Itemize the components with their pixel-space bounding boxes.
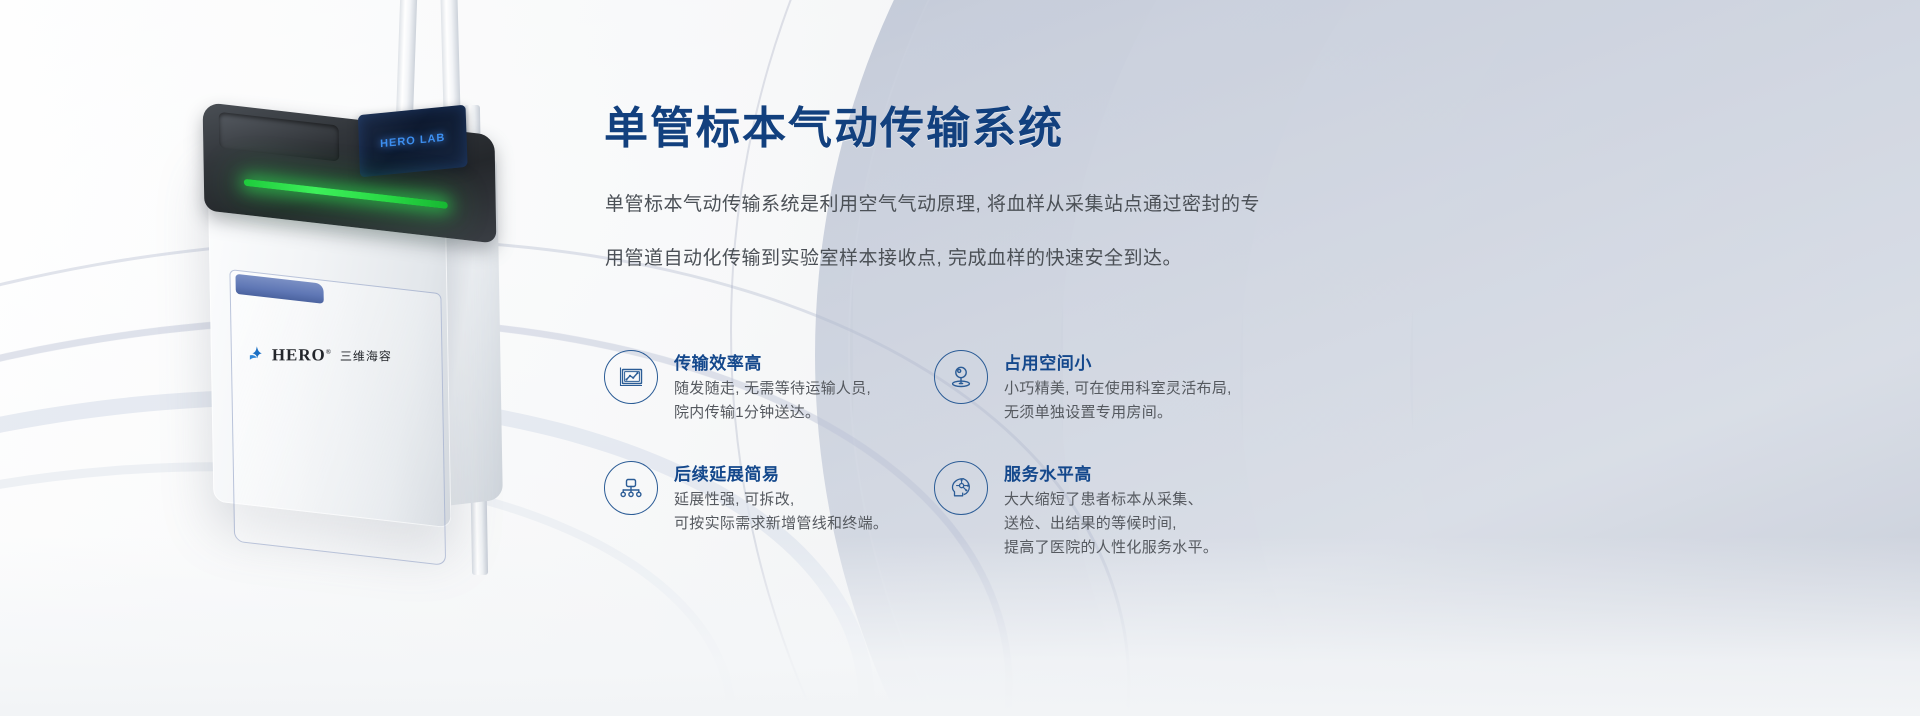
feature-title: 占用空间小 [1004, 349, 1232, 374]
smart-head-icon [934, 461, 988, 515]
hero-mark-icon [247, 345, 267, 365]
feature-title: 服务水平高 [1004, 460, 1218, 485]
feature-description: 延展性强, 可拆改, 可按实际需求新增管线和终端。 [674, 488, 888, 536]
page-description: 单管标本气动传输系统是利用空气气动原理, 将血样从采集站点通过密封的专用管道自动… [605, 178, 1265, 286]
space-pin-icon [934, 350, 988, 404]
feature-description: 小巧精美, 可在使用科室灵活布局, 无须单独设置专用房间。 [1004, 377, 1232, 425]
feature-description: 随发随走, 无需等待运输人员, 院内传输1分钟送达。 [674, 377, 871, 425]
product-banner: HERO® 三维海容 HERO LAB 单管标本气动传输系统 单管标本气动传输系… [0, 0, 1920, 716]
hero-wordmark: HERO® [272, 345, 332, 365]
network-tree-icon [604, 461, 658, 515]
feature-text: 服务水平高 大大缩短了患者标本从采集、 送检、出结果的等候时间, 提高了医院的人… [1004, 459, 1218, 560]
registered-mark: ® [326, 348, 332, 356]
chart-trend-icon [604, 350, 658, 404]
feature-item: 后续延展简易 延展性强, 可拆改, 可按实际需求新增管线和终端。 [604, 459, 934, 560]
screen-logo-text: HERO LAB [380, 132, 446, 150]
feature-text: 后续延展简易 延展性强, 可拆改, 可按实际需求新增管线和终端。 [674, 459, 888, 536]
hero-chinese-name: 三维海容 [340, 347, 392, 364]
product-illustration: HERO® 三维海容 HERO LAB [150, 0, 600, 716]
page-title: 单管标本气动传输系统 [604, 92, 1064, 156]
feature-title: 传输效率高 [674, 349, 871, 374]
device-brand-logo: HERO® 三维海容 [247, 345, 392, 365]
feature-text: 占用空间小 小巧精美, 可在使用科室灵活布局, 无须单独设置专用房间。 [1004, 348, 1232, 425]
feature-description: 大大缩短了患者标本从采集、 送检、出结果的等候时间, 提高了医院的人性化服务水平… [1004, 488, 1218, 560]
feature-title: 后续延展简易 [674, 460, 888, 485]
pneumatic-tube-right [440, 0, 460, 120]
pneumatic-station-device: HERO® 三维海容 HERO LAB [207, 102, 514, 537]
feature-text: 传输效率高 随发随走, 无需等待运输人员, 院内传输1分钟送达。 [674, 348, 871, 425]
feature-item: 传输效率高 随发随走, 无需等待运输人员, 院内传输1分钟送达。 [604, 348, 934, 425]
feature-item: 服务水平高 大大缩短了患者标本从采集、 送检、出结果的等候时间, 提高了医院的人… [934, 459, 1264, 560]
feature-item: 占用空间小 小巧精美, 可在使用科室灵活布局, 无须单独设置专用房间。 [934, 348, 1264, 425]
device-touchscreen[interactable]: HERO LAB [358, 105, 468, 178]
device-sample-bay [219, 112, 340, 162]
device-door [229, 269, 446, 566]
feature-grid: 传输效率高 随发随走, 无需等待运输人员, 院内传输1分钟送达。 [604, 348, 1264, 560]
content-column: 单管标本气动传输系统 单管标本气动传输系统是利用空气气动原理, 将血样从采集站点… [604, 0, 1854, 716]
